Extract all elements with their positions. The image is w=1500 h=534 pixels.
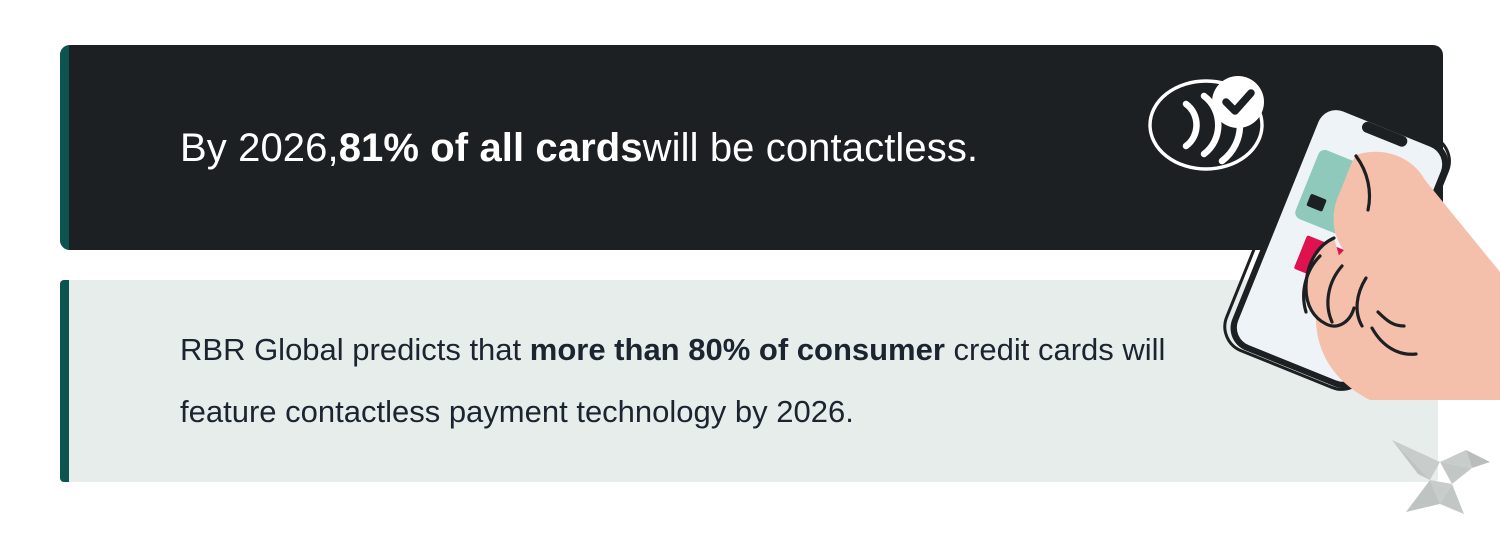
body-line-1: RBR Global predicts that more than 80% o… xyxy=(180,319,1410,381)
headline: By 2026, 81% of all cards will be contac… xyxy=(180,45,978,250)
body-panel: RBR Global predicts that more than 80% o… xyxy=(60,280,1438,482)
body-line-2: feature contactless payment technology b… xyxy=(180,381,1410,443)
body-line1-prefix: RBR Global predicts that xyxy=(180,332,530,367)
headline-accent-bar xyxy=(60,45,69,250)
headline-banner: By 2026, 81% of all cards will be contac… xyxy=(60,45,1443,250)
headline-emphasis: 81% of all cards xyxy=(339,123,643,173)
body-line1-emphasis: more than 80% of consumer xyxy=(530,332,945,367)
pay-button-label: PAY xyxy=(1318,252,1356,282)
body-copy: RBR Global predicts that more than 80% o… xyxy=(180,280,1410,482)
headline-prefix: By 2026, xyxy=(180,123,339,173)
body-line1-suffix: credit cards will xyxy=(945,332,1166,367)
headline-suffix: will be contactless. xyxy=(643,123,978,173)
body-accent-bar xyxy=(60,280,69,482)
infographic-stage: By 2026, 81% of all cards will be contac… xyxy=(0,0,1500,534)
